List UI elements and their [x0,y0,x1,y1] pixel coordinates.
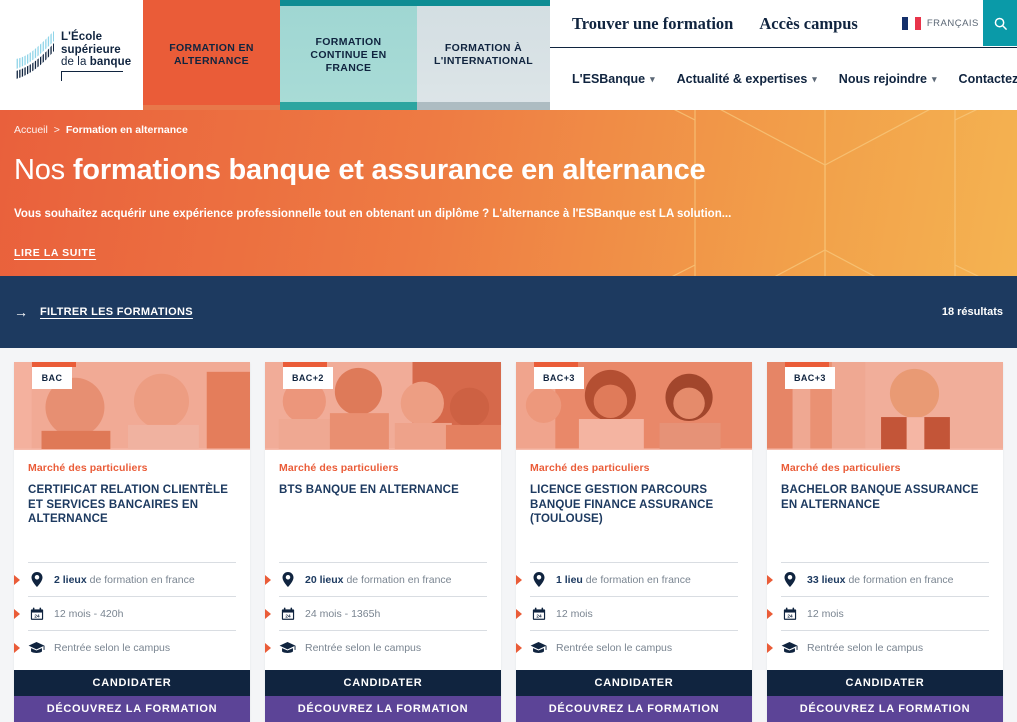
card-title: BACHELOR BANQUE ASSURANCE EN ALTERNANCE [781,483,989,512]
arrow-marker-icon [516,643,522,653]
spec-locations: 2 lieux de formation en france [28,562,236,596]
search-button[interactable] [983,0,1017,46]
formation-card[interactable]: BAC+2 Marché des particuliers BTS BANQUE… [265,362,501,722]
card-title: BTS BANQUE EN ALTERNANCE [279,483,487,498]
spec-locations: 20 lieux de formation en france [279,562,487,596]
spec-duration: 24 12 mois [530,596,738,630]
tab-formation-alternance[interactable]: FORMATION EN ALTERNANCE [143,0,280,110]
graduation-cap-icon [28,641,45,654]
level-badge: BAC+3 [785,367,835,389]
logo-wordmark: L'École supérieure de la banque [61,29,131,81]
logo-zone[interactable]: L'École supérieure de la banque [0,0,143,110]
svg-text:24: 24 [285,613,291,618]
spec-text: 33 lieux de formation en france [807,574,954,586]
spec-text: 12 mois [807,608,844,620]
language-selector[interactable]: FRANÇAIS ▾ [902,17,990,30]
location-pin-icon [279,572,296,587]
spec-text: 1 lieu de formation en france [556,574,691,586]
logo-rule [61,71,123,72]
formation-card[interactable]: BAC Marché des particuliers CERTIFICAT R… [14,362,250,722]
link-acces-campus[interactable]: Accès campus [759,14,858,34]
arrow-marker-icon [265,575,271,585]
level-badge: BAC+3 [534,367,584,389]
arrow-marker-icon [265,643,271,653]
card-title: LICENCE GESTION PARCOURS BANQUE FINANCE … [530,483,738,527]
nav-item-actualite-expertises[interactable]: Actualité & expertises ▾ [677,72,817,86]
arrow-marker-icon [516,609,522,619]
hero-subtitle: Vous souhaitez acquérir une expérience p… [14,207,1017,222]
location-pin-icon [28,572,45,587]
spec-duration: 24 12 mois [781,596,989,630]
location-pin-icon [781,572,798,587]
arrow-right-icon: → [14,305,28,319]
nav-item-nous-rejoindre[interactable]: Nous rejoindre ▾ [839,72,937,86]
arrow-marker-icon [516,575,522,585]
spec-start-date: Rentrée selon le campus [279,630,487,664]
filter-bar: → FILTRER LES FORMATIONS 18 résultats [0,276,1017,348]
spec-locations: 1 lieu de formation en france [530,562,738,596]
discover-button[interactable]: DÉCOUVREZ LA FORMATION [767,696,1003,722]
svg-text:24: 24 [787,613,793,618]
formation-cards-grid: BAC Marché des particuliers CERTIFICAT R… [0,348,1017,722]
arrow-marker-icon [767,643,773,653]
tab-formation-continue[interactable]: FORMATION CONTINUE EN FRANCE [280,0,417,110]
spec-start-date: Rentrée selon le campus [781,630,989,664]
arrow-marker-icon [14,609,20,619]
badge-accent-tab [283,362,327,367]
nav-item-label: Contactez-nous [959,72,1017,86]
chevron-down-icon: ▾ [812,74,817,85]
arrow-marker-icon [14,575,20,585]
spec-duration: 24 12 mois - 420h [28,596,236,630]
card-image: BAC [14,362,250,450]
read-more-link[interactable]: LIRE LA SUITE [14,247,96,259]
filter-formations-button[interactable]: → FILTRER LES FORMATIONS [14,305,193,319]
site-logo[interactable]: L'École supérieure de la banque [14,29,131,81]
card-image: BAC+3 [516,362,752,450]
breadcrumb-current: Formation en alternance [66,124,188,136]
formation-card[interactable]: BAC+3 Marché des particuliers LICENCE GE… [516,362,752,722]
spec-duration: 24 24 mois - 1365h [279,596,487,630]
arrow-marker-icon [767,609,773,619]
discover-button[interactable]: DÉCOUVREZ LA FORMATION [265,696,501,722]
french-flag-icon [902,17,921,30]
graduation-cap-icon [279,641,296,654]
card-image: BAC+2 [265,362,501,450]
tab-formation-international[interactable]: FORMATION À L'INTERNATIONAL [417,0,550,110]
logo-line-3: de la banque [61,56,131,69]
card-specs: 20 lieux de formation en france 24 24 mo… [265,562,501,664]
nav-item-contactez-nous[interactable]: Contactez-nous [959,72,1017,86]
tab-label: FORMATION À L'INTERNATIONAL [417,42,550,68]
spec-text: 2 lieux de formation en france [54,574,195,586]
discover-button[interactable]: DÉCOUVREZ LA FORMATION [516,696,752,722]
tab-label: FORMATION CONTINUE EN FRANCE [280,36,417,75]
spec-text: 24 mois - 1365h [305,608,380,620]
card-category: Marché des particuliers [279,462,487,474]
calendar-icon: 24 [28,607,45,621]
chevron-down-icon: ▾ [932,74,937,85]
breadcrumb: Accueil > Formation en alternance [14,124,1017,136]
apply-button[interactable]: CANDIDATER [265,670,501,696]
logo-line-2: supérieure [61,44,131,57]
link-trouver-une-formation[interactable]: Trouver une formation [572,14,733,34]
card-body: Marché des particuliers LICENCE GESTION … [516,450,752,562]
spec-text: 12 mois [556,608,593,620]
card-specs: 2 lieux de formation en france 24 12 moi… [14,562,250,664]
nav-item-lesbanque[interactable]: L'ESBanque ▾ [572,72,655,86]
logo-tick [61,72,62,81]
nav-item-label: Actualité & expertises [677,72,808,86]
card-category: Marché des particuliers [781,462,989,474]
nav-item-label: L'ESBanque [572,72,645,86]
spec-start-date: Rentrée selon le campus [28,630,236,664]
discover-button[interactable]: DÉCOUVREZ LA FORMATION [14,696,250,722]
arrow-marker-icon [14,643,20,653]
location-pin-icon [530,572,547,587]
page-title: Nos formations banque et assurance en al… [14,154,1017,187]
nav-top-row: Trouver une formation Accès campus FRANÇ… [550,0,1017,48]
nav-item-label: Nous rejoindre [839,72,927,86]
nav-zone: Trouver une formation Accès campus FRANÇ… [550,0,1017,110]
arrow-marker-icon [265,609,271,619]
svg-text:24: 24 [536,613,542,618]
hero-banner: Accueil > Formation en alternance Nos fo… [0,110,1017,276]
arrow-marker-icon [767,575,773,585]
apply-button[interactable]: CANDIDATER [516,670,752,696]
calendar-icon: 24 [279,607,296,621]
badge-accent-tab [534,362,578,367]
card-category: Marché des particuliers [530,462,738,474]
card-body: Marché des particuliers BACHELOR BANQUE … [767,450,1003,562]
card-body: Marché des particuliers BTS BANQUE EN AL… [265,450,501,562]
filter-label: FILTRER LES FORMATIONS [40,306,193,318]
tab-label: FORMATION EN ALTERNANCE [143,42,280,68]
card-body: Marché des particuliers CERTIFICAT RELAT… [14,450,250,562]
level-badge: BAC [32,367,72,389]
card-specs: 33 lieux de formation en france 24 12 mo… [767,562,1003,664]
calendar-icon: 24 [530,607,547,621]
graduation-cap-icon [530,641,547,654]
breadcrumb-home[interactable]: Accueil [14,124,48,136]
language-label: FRANÇAIS [927,18,979,29]
spec-start-date: Rentrée selon le campus [530,630,738,664]
badge-accent-tab [32,362,76,367]
results-count: 18 résultats [942,306,1003,318]
card-specs: 1 lieu de formation en france 24 12 mois… [516,562,752,664]
spec-text: 20 lieux de formation en france [305,574,452,586]
card-title: CERTIFICAT RELATION CLIENTÈLE ET SERVICE… [28,483,236,527]
chevron-down-icon: ▾ [650,74,655,85]
spec-text: 12 mois - 420h [54,608,123,620]
spec-locations: 33 lieux de formation en france [781,562,989,596]
level-badge: BAC+2 [283,367,333,389]
formation-card[interactable]: BAC+3 Marché des particuliers BACHELOR B… [767,362,1003,722]
spec-text: Rentrée selon le campus [807,642,923,654]
spec-text: Rentrée selon le campus [305,642,421,654]
apply-button[interactable]: CANDIDATER [14,670,250,696]
spec-text: Rentrée selon le campus [556,642,672,654]
apply-button[interactable]: CANDIDATER [767,670,1003,696]
svg-text:24: 24 [34,613,40,618]
search-icon [993,16,1008,31]
calendar-icon: 24 [781,607,798,621]
badge-accent-tab [785,362,829,367]
breadcrumb-separator: > [54,124,60,136]
logo-line-1: L'École [61,31,131,44]
card-image: BAC+3 [767,362,1003,450]
card-category: Marché des particuliers [28,462,236,474]
site-header: L'École supérieure de la banque FORMATIO… [0,0,1017,110]
spec-text: Rentrée selon le campus [54,642,170,654]
graduation-cap-icon [781,641,798,654]
bar-chart-logo-mark [14,29,56,81]
nav-bottom-row: L'ESBanque ▾ Actualité & expertises ▾ No… [550,48,1017,110]
